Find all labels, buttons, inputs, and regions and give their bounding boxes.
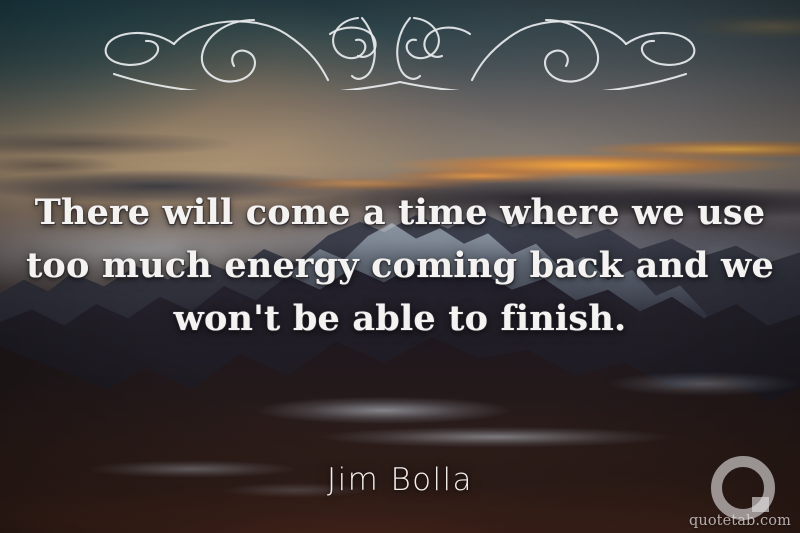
quote-line-1: There will come a time where we use (0, 186, 800, 239)
quote-line-3: won't be able to finish. (0, 292, 800, 345)
flourish-ornament-icon (86, 8, 714, 90)
quote-line-2: too much energy coming back and we (0, 239, 800, 292)
watermark[interactable]: quotetab.com (688, 456, 792, 529)
quote-author: Jim Bolla (0, 462, 800, 498)
quote-text: There will come a time where we use too … (0, 186, 800, 345)
quote-card: There will come a time where we use too … (0, 0, 800, 533)
quotetab-q-logo-icon[interactable] (711, 456, 769, 512)
logo-tail-shape (752, 497, 769, 512)
